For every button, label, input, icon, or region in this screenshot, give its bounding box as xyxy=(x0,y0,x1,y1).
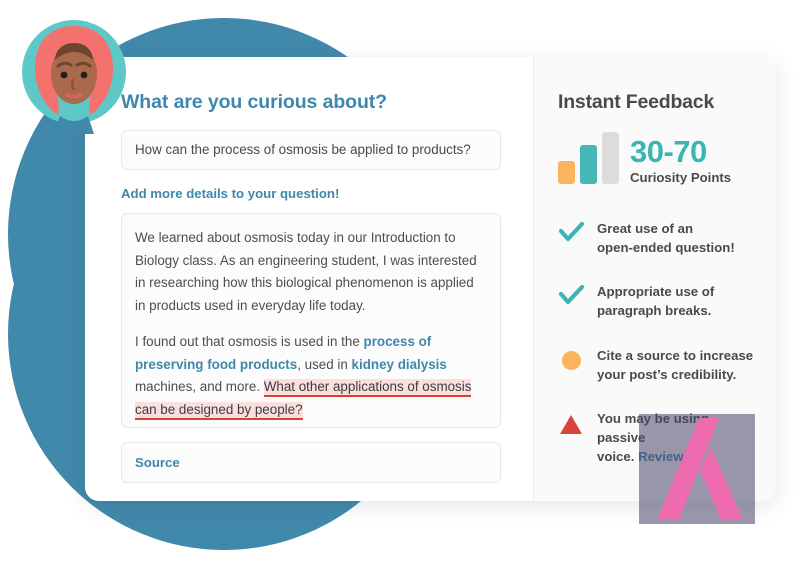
feedback-item-text: Appropriate use of paragraph breaks. xyxy=(597,283,714,320)
feedback-line-1: Cite a source to increase xyxy=(597,348,753,363)
feedback-line-2: your post’s credibility. xyxy=(597,367,736,382)
question-title-value: How can the process of osmosis be applie… xyxy=(135,142,471,157)
body-p2-text-3: machines, and more. xyxy=(135,379,264,394)
feedback-title: Instant Feedback xyxy=(558,91,754,114)
body-paragraph-1: We learned about osmosis today in our In… xyxy=(135,227,486,317)
bar-chart-icon xyxy=(558,132,619,186)
check-icon xyxy=(558,220,584,248)
warning-triangle-shape xyxy=(560,415,582,434)
check-icon xyxy=(558,283,584,311)
question-body-textarea[interactable]: We learned about osmosis today in our In… xyxy=(121,213,501,428)
watermark-logo xyxy=(639,414,755,524)
feedback-line-1: Appropriate use of xyxy=(597,284,714,299)
screenshot-stage: What are you curious about? How can the … xyxy=(0,0,800,561)
circle-icon-shape xyxy=(562,351,581,370)
curiosity-score: 30-70 Curiosity Points xyxy=(558,132,754,186)
feedback-line-2: voice. xyxy=(597,449,638,464)
source-input[interactable]: Source xyxy=(121,442,501,483)
bar-segment-3 xyxy=(602,132,619,184)
feedback-item-text: Cite a source to increase your post’s cr… xyxy=(597,347,753,384)
feedback-item-text: Great use of an open-ended question! xyxy=(597,220,735,257)
feedback-item: Great use of an open-ended question! xyxy=(558,220,754,257)
feedback-line-2: paragraph breaks. xyxy=(597,303,711,318)
feedback-item: Cite a source to increase your post’s cr… xyxy=(558,347,754,384)
body-paragraph-2: I found out that osmosis is used in the … xyxy=(135,331,486,421)
circle-icon xyxy=(558,347,584,375)
feedback-item: Appropriate use of paragraph breaks. xyxy=(558,283,754,320)
add-details-link[interactable]: Add more details to your question! xyxy=(121,186,501,201)
bar-segment-2 xyxy=(580,145,597,184)
score-text-group: 30-70 Curiosity Points xyxy=(630,137,731,186)
body-p2-text-2: , used in xyxy=(297,357,351,372)
body-p2-text-1: I found out that osmosis is used in the xyxy=(135,334,364,349)
bar-segment-1 xyxy=(558,161,575,184)
score-value: 30-70 xyxy=(630,137,731,167)
keyword-link-kidney-dialysis[interactable]: kidney dialysis xyxy=(352,357,447,372)
source-label: Source xyxy=(135,455,180,470)
warning-triangle-icon xyxy=(558,410,584,438)
feedback-line-2: open-ended question! xyxy=(597,240,735,255)
composer-pane: What are you curious about? How can the … xyxy=(85,57,533,501)
avatar xyxy=(14,12,134,134)
score-label: Curiosity Points xyxy=(630,170,731,185)
question-title-input[interactable]: How can the process of osmosis be applie… xyxy=(121,130,501,170)
page-title: What are you curious about? xyxy=(121,91,501,114)
feedback-line-1: Great use of an xyxy=(597,221,693,236)
